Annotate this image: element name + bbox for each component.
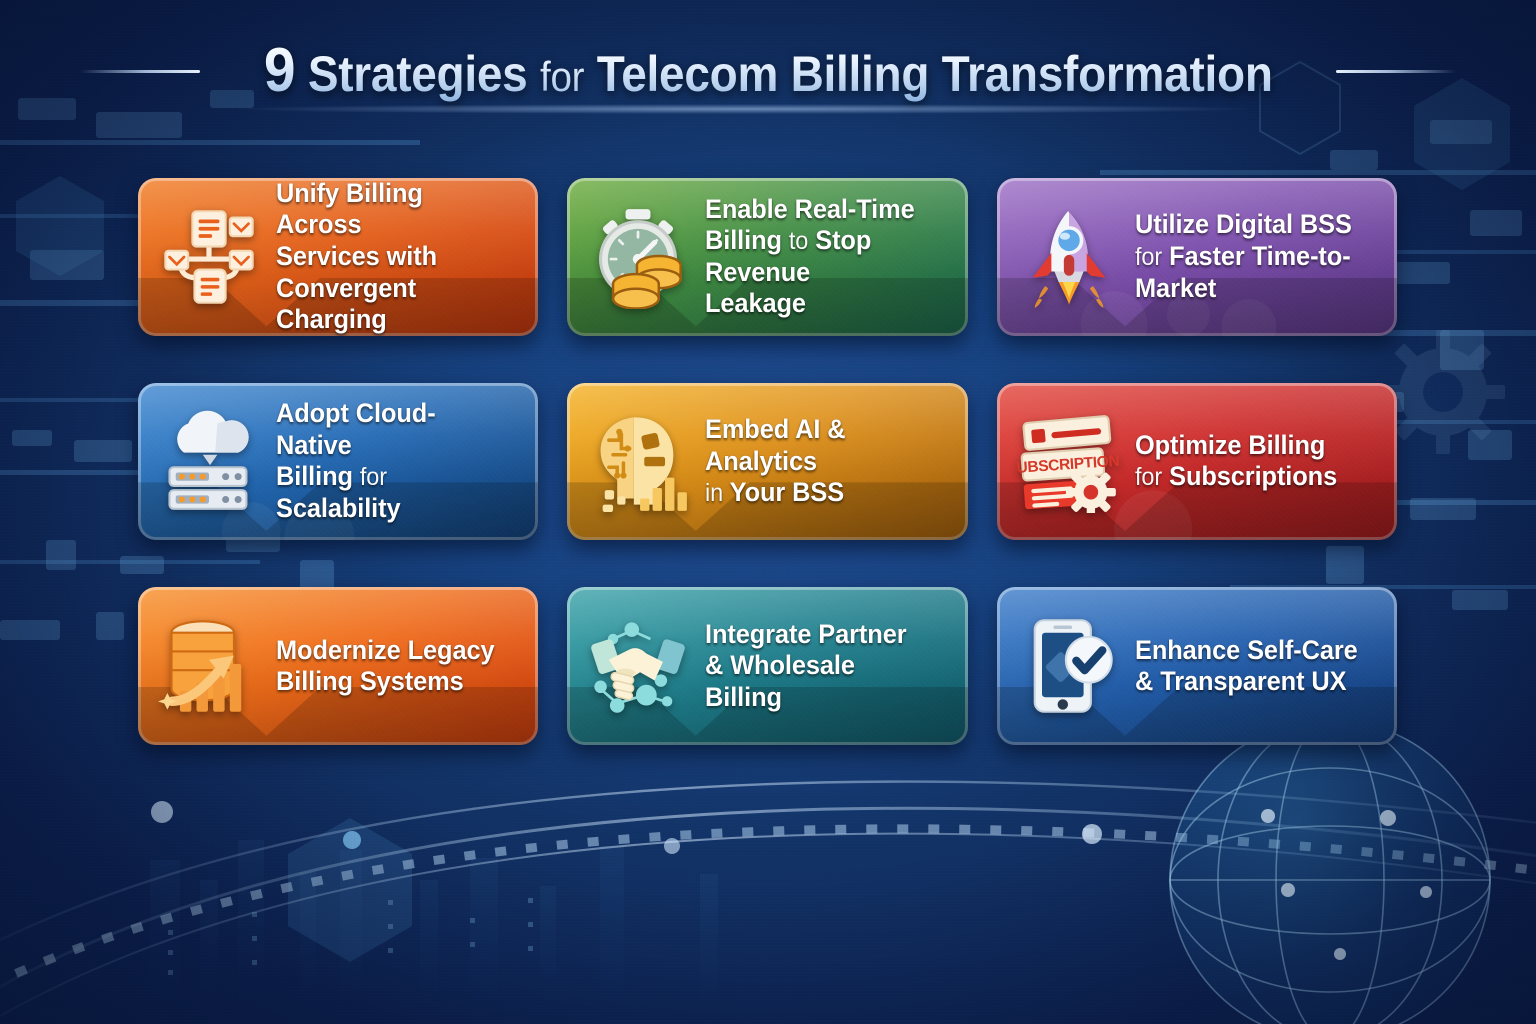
card-text: Unify Billing Across Services with Conve… <box>276 178 508 336</box>
card-line-1: Unify Billing Across <box>276 178 504 241</box>
card-line-2: in Your BSS <box>705 477 933 509</box>
subscription-gear-icon: SUBSCRIPTION <box>1009 402 1127 520</box>
card-text: Enhance Self-Care & Transparent UX <box>1135 635 1361 698</box>
title-rule-left <box>80 70 200 73</box>
strategy-card-subscriptions[interactable]: SUBSCRIPTION <box>997 383 1397 541</box>
card-line-1: Utilize Digital BSS <box>1135 209 1363 241</box>
network-document-icon <box>150 198 268 316</box>
card-line-2: Billing Systems <box>276 666 495 698</box>
card-line-2-connector: for <box>1135 463 1162 491</box>
card-line-2-connector: for <box>1135 243 1162 271</box>
card-line-2-b: Your BSS <box>730 477 844 507</box>
cloud-server-icon <box>150 402 268 520</box>
card-line-2-a: Billing <box>276 461 353 491</box>
card-text: Utilize Digital BSS for Faster Time-to-M… <box>1135 209 1367 304</box>
strategy-card-partner-wholesale[interactable]: Integrate Partner & Wholesale Billing <box>567 587 967 745</box>
rocket-icon <box>1009 198 1127 316</box>
title-underglow <box>238 104 1248 114</box>
card-text: Integrate Partner & Wholesale Billing <box>705 619 937 714</box>
strategy-card-digital-bss[interactable]: Utilize Digital BSS for Faster Time-to-M… <box>997 178 1397 336</box>
card-line-2: Billing for Scalability <box>276 461 504 524</box>
smartphone-check-icon <box>1009 607 1127 725</box>
card-line-2-a: Billing <box>705 225 782 255</box>
card-line-2-b: Subscriptions <box>1169 461 1337 491</box>
strategy-card-real-time-billing[interactable]: Enable Real-Time Billing to Stop Revenue… <box>567 178 967 336</box>
card-line-1: Enhance Self-Care <box>1135 635 1358 667</box>
title-part-2: Telecom Billing Transformation <box>597 46 1273 102</box>
card-line-3: Convergent Charging <box>276 273 504 336</box>
title-rule-right <box>1336 70 1456 73</box>
title-part-1: Strategies <box>308 46 528 102</box>
strategy-card-grid: Unify Billing Across Services with Conve… <box>138 178 1397 745</box>
strategy-card-self-care-ux[interactable]: Enhance Self-Care & Transparent UX <box>997 587 1397 745</box>
card-line-2: for Subscriptions <box>1135 461 1337 493</box>
strategy-card-ai-analytics[interactable]: Embed AI & Analytics in Your BSS <box>567 383 967 541</box>
handshake-network-icon <box>579 607 697 725</box>
strategy-card-modernize-legacy[interactable]: Modernize Legacy Billing Systems <box>138 587 538 745</box>
ai-brain-chart-icon <box>579 402 697 520</box>
card-line-1: Enable Real-Time <box>705 194 933 226</box>
card-line-2: Services with <box>276 241 504 273</box>
card-line-2: & Wholesale Billing <box>705 650 933 713</box>
page-title: 9 Strategies for Telecom Billing Transfo… <box>264 40 1273 102</box>
database-growth-icon <box>150 607 268 725</box>
title-bar: 9 Strategies for Telecom Billing Transfo… <box>0 32 1536 110</box>
card-line-2-b: Scalability <box>276 493 401 523</box>
card-line-1: Integrate Partner <box>705 619 933 651</box>
card-line-1: Adopt Cloud-Native <box>276 398 504 461</box>
stopwatch-coins-icon <box>579 198 697 316</box>
title-number: 9 <box>264 36 295 105</box>
card-line-2-b: Faster Time-to-Market <box>1135 241 1351 303</box>
card-line-2-connector: in <box>705 479 723 507</box>
card-text: Embed AI & Analytics in Your BSS <box>705 414 937 509</box>
card-line-2: & Transparent UX <box>1135 666 1358 698</box>
card-line-1: Optimize Billing <box>1135 430 1337 462</box>
card-line-1: Modernize Legacy <box>276 635 495 667</box>
card-text: Optimize Billing for Subscriptions <box>1135 430 1341 493</box>
strategy-card-cloud-native[interactable]: Adopt Cloud-Native Billing for Scalabili… <box>138 383 538 541</box>
card-text: Modernize Legacy Billing Systems <box>276 635 498 698</box>
strategy-card-unify-billing[interactable]: Unify Billing Across Services with Conve… <box>138 178 538 336</box>
card-line-3: Leakage <box>705 288 933 320</box>
card-text: Adopt Cloud-Native Billing for Scalabili… <box>276 398 508 524</box>
card-line-2: Billing to Stop Revenue <box>705 225 933 288</box>
card-line-1: Embed AI & Analytics <box>705 414 933 477</box>
card-line-2-connector: to <box>789 227 808 255</box>
card-line-2-connector: for <box>360 463 387 491</box>
title-connector: for <box>540 53 584 100</box>
card-text: Enable Real-Time Billing to Stop Revenue… <box>705 194 937 320</box>
card-line-2: for Faster Time-to-Market <box>1135 241 1363 304</box>
